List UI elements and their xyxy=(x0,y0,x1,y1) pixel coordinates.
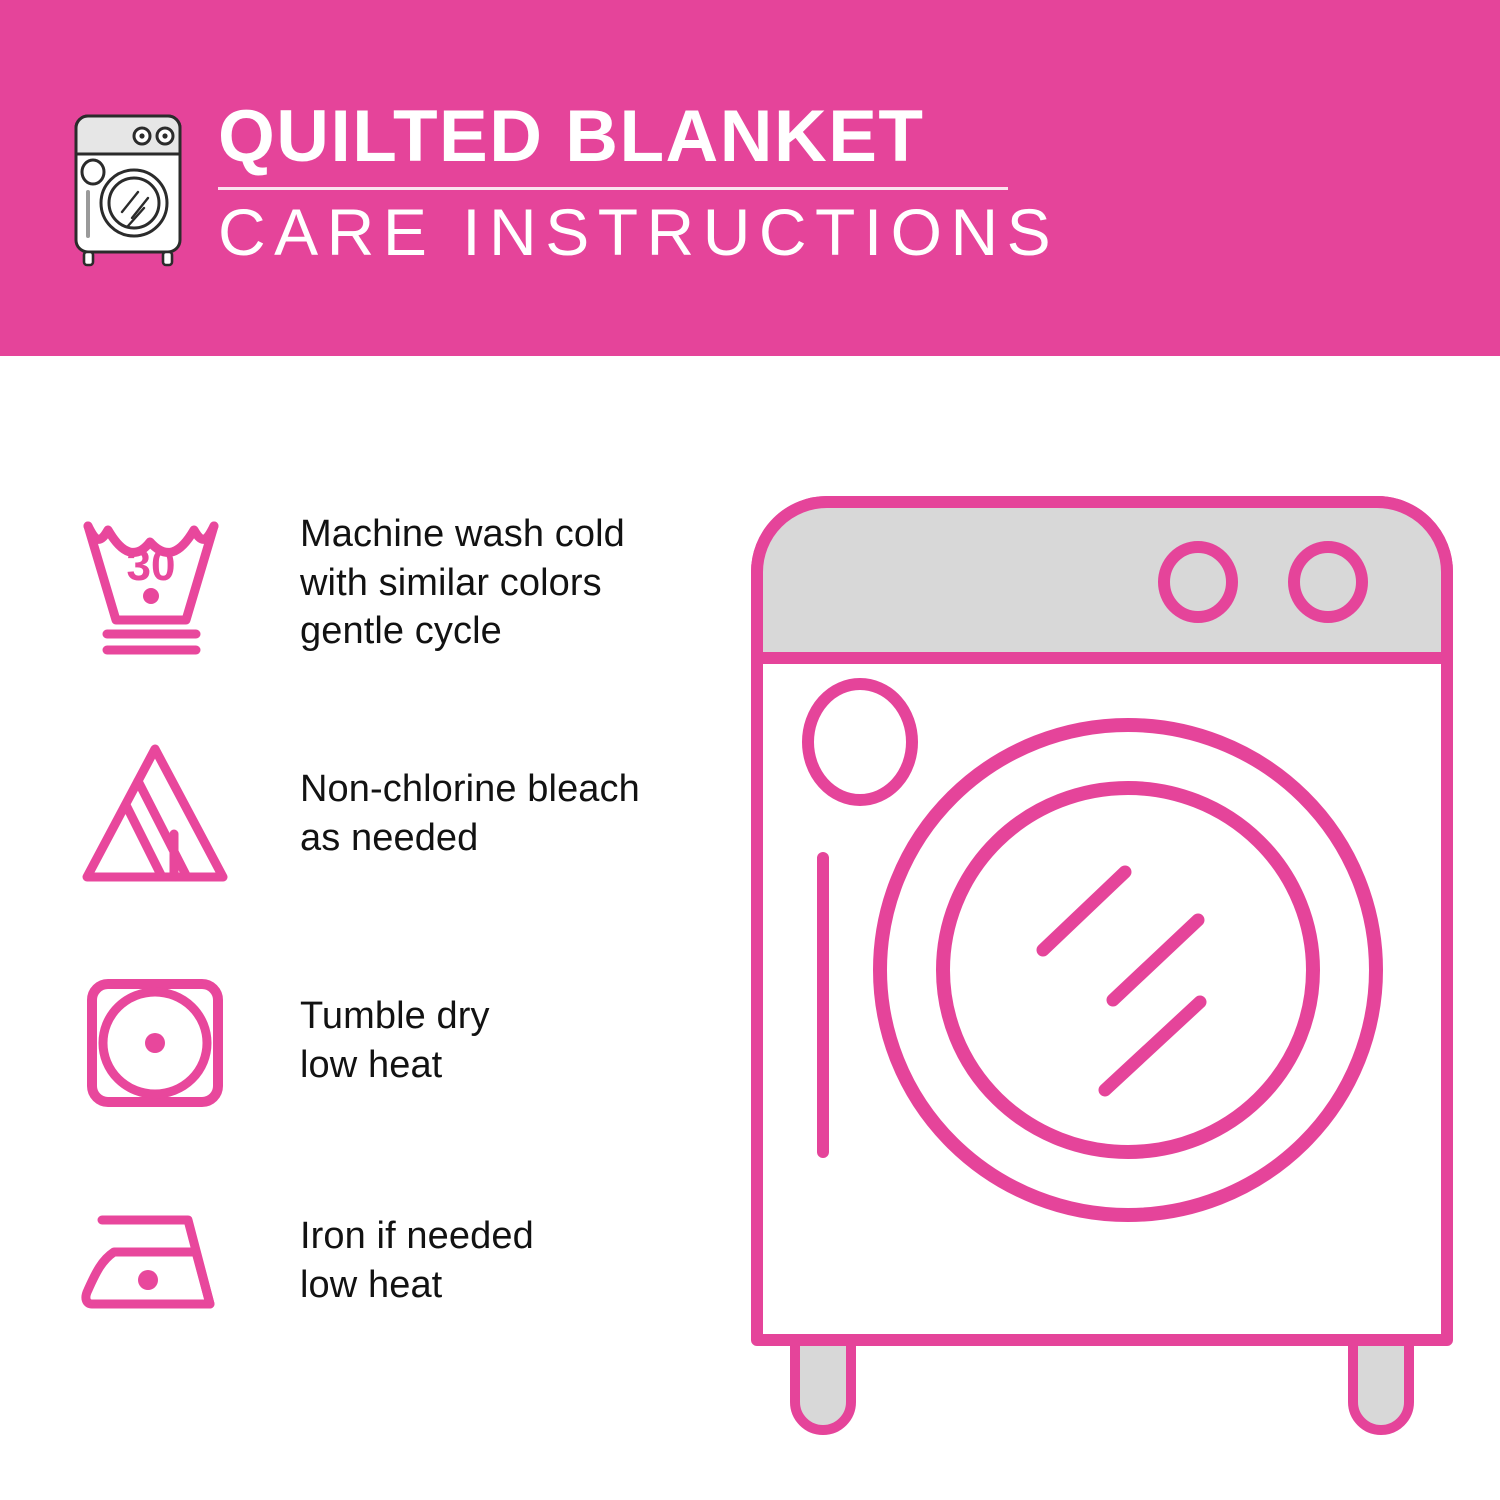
care-label-bleach: Non-chlorine bleach as needed xyxy=(300,765,640,862)
machine-knob-left xyxy=(1164,547,1232,617)
care-row-dry: Tumble dry low heat xyxy=(70,956,720,1126)
header-banner: QUILTED BLANKET CARE INSTRUCTIONS xyxy=(0,0,1500,356)
machine-knob-right xyxy=(1294,547,1362,617)
care-row-wash: 30 Machine wash cold with similar colors… xyxy=(70,498,720,668)
header-text-group: QUILTED BLANKET CARE INSTRUCTIONS xyxy=(218,100,1059,267)
non-chlorine-bleach-triangle-icon xyxy=(70,729,240,899)
machine-legs xyxy=(795,1336,1409,1430)
care-instruction-list: 30 Machine wash cold with similar colors… xyxy=(0,356,740,1500)
care-row-bleach: Non-chlorine bleach as needed xyxy=(70,729,720,899)
header-content: QUILTED BLANKET CARE INSTRUCTIONS xyxy=(62,100,1059,268)
washing-machine-icon xyxy=(62,108,194,268)
care-instructions-infographic: QUILTED BLANKET CARE INSTRUCTIONS xyxy=(0,0,1500,1500)
front-load-washing-machine-illustration xyxy=(735,480,1480,1440)
care-label-iron: Iron if needed low heat xyxy=(300,1212,534,1309)
wash-basin-30-icon: 30 xyxy=(70,498,240,668)
machine-dial xyxy=(808,684,912,800)
header-divider xyxy=(218,187,1008,190)
iron-low-heat-icon xyxy=(70,1176,240,1346)
tumble-dry-low-icon xyxy=(70,956,240,1126)
care-label-wash: Machine wash cold with similar colors ge… xyxy=(300,510,625,656)
page-subtitle: CARE INSTRUCTIONS xyxy=(218,198,1059,267)
care-row-iron: Iron if needed low heat xyxy=(70,1176,720,1346)
wash-temperature-value: 30 xyxy=(127,541,176,590)
page-title: QUILTED BLANKET xyxy=(218,100,1059,179)
care-label-dry: Tumble dry low heat xyxy=(300,992,490,1089)
